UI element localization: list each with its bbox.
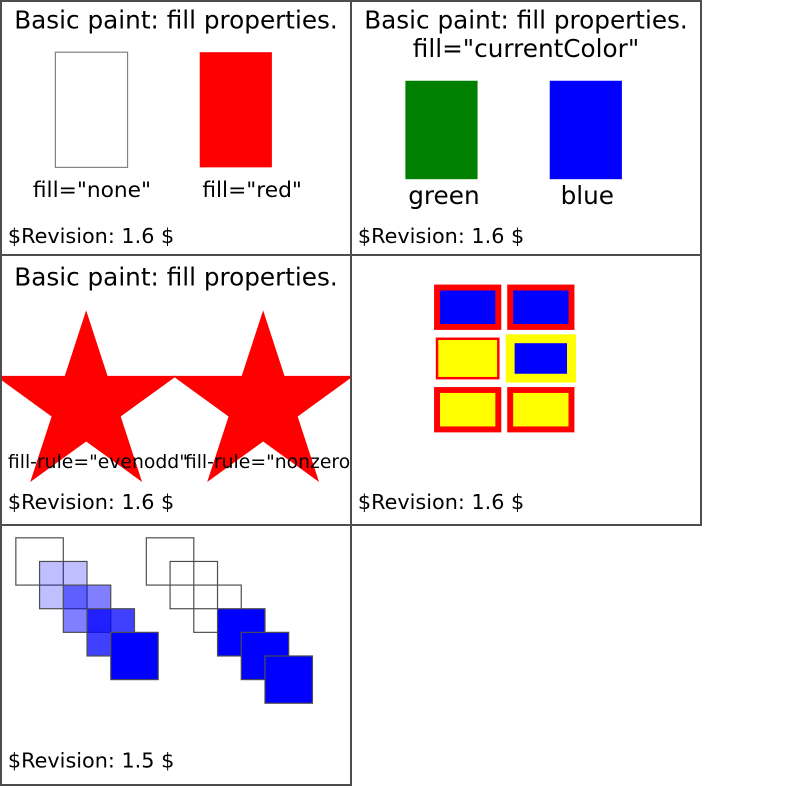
panel-5-canvas: $Revision: 1.5 $ [2, 526, 350, 784]
grid-cell-3 [437, 339, 498, 378]
label-fill-none: fill="none" [33, 178, 151, 203]
rect-fill-blue [550, 81, 622, 179]
panel-2-canvas: Basic paint: fill properties. fill="curr… [352, 2, 700, 254]
grid-cell-2 [510, 288, 571, 327]
panel-4-revision: $Revision: 1.6 $ [358, 490, 524, 514]
panel-fill-stroke-grid[interactable]: $Revision: 1.6 $ [350, 254, 702, 526]
rect-fill-red [200, 52, 272, 167]
panel-2-title-line1: Basic paint: fill properties. [364, 6, 688, 35]
opacity-square-5 [111, 632, 158, 679]
panel-1-revision: $Revision: 1.6 $ [8, 224, 174, 248]
label-fill-rule-nonzero: fill-rule="nonzero" [185, 452, 350, 473]
panel-3-canvas: Basic paint: fill properties. fill-rule=… [2, 256, 350, 524]
panel-fill-properties-basic[interactable]: Basic paint: fill properties. fill="none… [0, 0, 352, 256]
opacity-group-gradual [16, 538, 158, 680]
opacity-group-stepped [146, 538, 312, 703]
panel-fill-currentcolor[interactable]: Basic paint: fill properties. fill="curr… [350, 0, 702, 256]
grid-cell-1 [437, 288, 498, 327]
panel-1-canvas: Basic paint: fill properties. fill="none… [2, 2, 350, 254]
svg-test-thumbnail-grid: Basic paint: fill properties. fill="none… [0, 0, 800, 800]
stepped-square-6 [265, 656, 312, 703]
label-fill-red: fill="red" [202, 178, 302, 203]
label-blue: blue [561, 181, 614, 210]
grid-cell-6 [510, 390, 571, 429]
rect-fill-none [55, 52, 127, 167]
grid-cell-4 [510, 339, 571, 378]
panel-1-title: Basic paint: fill properties. [14, 6, 338, 35]
rect-fill-green [405, 81, 477, 179]
panel-fill-opacity[interactable]: $Revision: 1.5 $ [0, 524, 352, 786]
panel-4-canvas: $Revision: 1.6 $ [352, 256, 700, 524]
label-fill-rule-evenodd: fill-rule="evenodd" [8, 452, 188, 473]
panel-5-revision: $Revision: 1.5 $ [8, 748, 174, 772]
panel-fill-rule[interactable]: Basic paint: fill properties. fill-rule=… [0, 254, 352, 526]
panel-3-revision: $Revision: 1.6 $ [8, 490, 174, 514]
label-green: green [408, 181, 479, 210]
panel-2-revision: $Revision: 1.6 $ [358, 224, 524, 248]
panel-3-title: Basic paint: fill properties. [14, 263, 337, 292]
grid-cell-5 [437, 390, 498, 429]
panel-2-title-line2: fill="currentColor" [413, 34, 639, 63]
